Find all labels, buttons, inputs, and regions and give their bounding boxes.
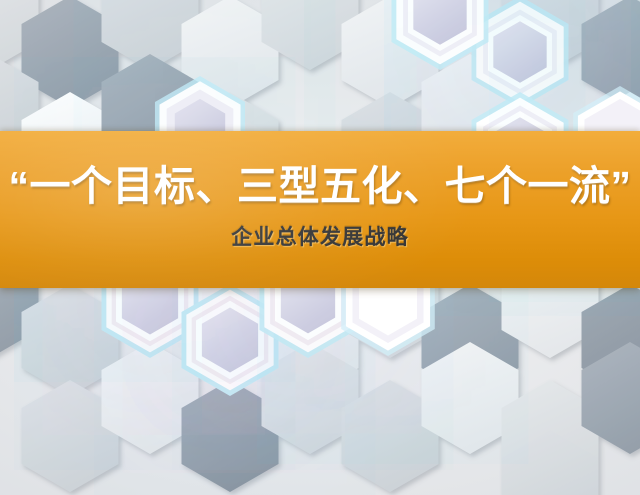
title-band: “一个目标、三型五化、七个一流” 企业总体发展战略: [0, 131, 640, 288]
page-subtitle: 企业总体发展战略: [231, 221, 409, 251]
title-slide: “一个目标、三型五化、七个一流” 企业总体发展战略: [0, 0, 640, 495]
page-title: “一个目标、三型五化、七个一流”: [9, 164, 632, 210]
